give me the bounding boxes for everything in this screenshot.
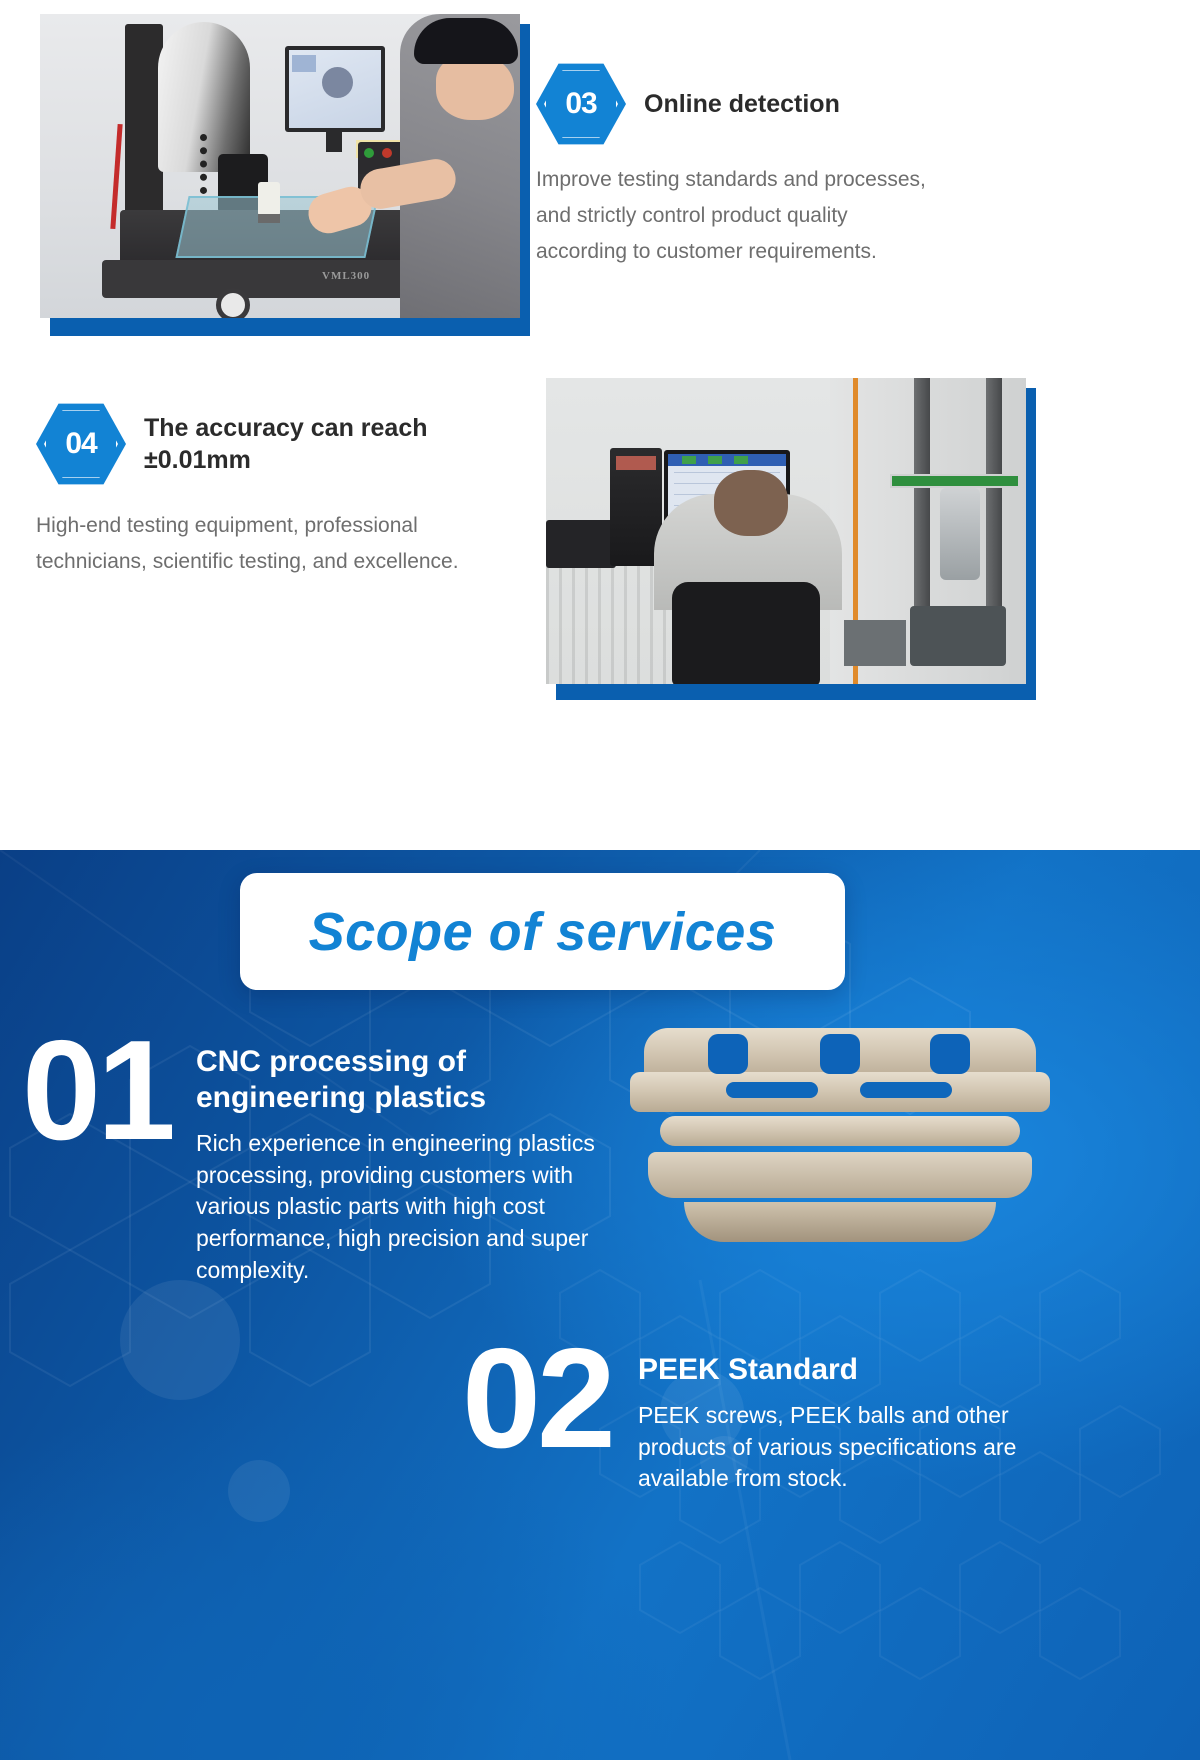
service-01-title: CNC processing of engineering plastics	[196, 1044, 626, 1116]
service-02-title: PEEK Standard	[638, 1352, 1044, 1388]
decorative-blob	[120, 1280, 240, 1400]
service-block-02: 02 PEEK Standard PEEK screws, PEEK balls…	[462, 1328, 1044, 1495]
online-detection-photo: VML300	[40, 14, 520, 318]
service-01-body: Rich experience in engineering plastics …	[196, 1128, 626, 1287]
peek-machined-part-image	[630, 1020, 1050, 1260]
accuracy-photo	[546, 378, 1026, 684]
feature-03-header: 03 Online detection	[536, 62, 1036, 146]
machine-model-label: VML300	[322, 270, 370, 282]
service-block-01: 01 CNC processing of engineering plastic…	[22, 1020, 626, 1287]
features-section: VML300 03 Online detection Improve testi…	[0, 0, 1200, 850]
scope-banner-title: Scope of services	[309, 905, 777, 959]
feature-03-body: Improve testing standards and processes,…	[536, 162, 936, 270]
feature-04-title: The accuracy can reach ±0.01mm	[144, 402, 504, 476]
service-02-number: 02	[462, 1328, 612, 1495]
feature-04-number: 04	[36, 402, 126, 486]
online-detection-photo-frame: VML300	[40, 14, 520, 326]
service-01-number: 01	[22, 1020, 172, 1287]
feature-03-title: Online detection	[644, 88, 840, 120]
scope-banner-card: Scope of services	[240, 873, 845, 990]
feature-04-header: 04 The accuracy can reach ±0.01mm	[36, 402, 536, 486]
feature-block-04: 04 The accuracy can reach ±0.01mm High-e…	[36, 402, 536, 580]
hexagon-number-badge-icon: 03	[536, 62, 626, 146]
feature-04-body: High-end testing equipment, professional…	[36, 508, 476, 580]
service-02-body: PEEK screws, PEEK balls and other produc…	[638, 1400, 1044, 1495]
hexagon-number-badge-icon: 04	[36, 402, 126, 486]
decorative-blob	[228, 1460, 290, 1522]
accuracy-photo-frame	[546, 378, 1030, 694]
feature-03-number: 03	[536, 62, 626, 146]
feature-block-03: 03 Online detection Improve testing stan…	[536, 62, 1036, 270]
scope-of-services-section: Scope of services 01 CNC processing of e…	[0, 850, 1200, 1760]
